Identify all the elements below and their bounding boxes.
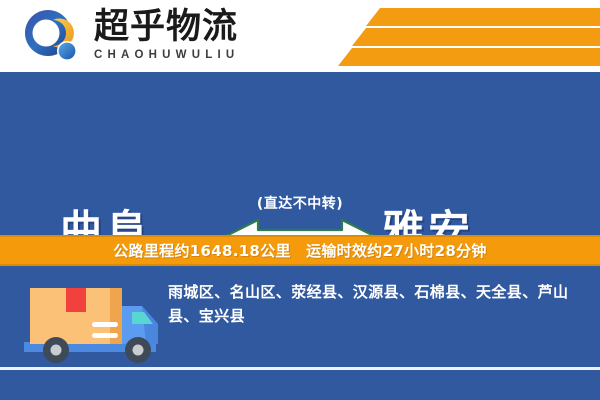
direct-shipping-note: (直达不中转) (0, 193, 600, 213)
brand-name-cn: 超乎物流 (94, 7, 274, 47)
circle-crescent-logo-icon (22, 8, 82, 66)
brand-block: 超乎物流 CHAOHUWULIU (94, 7, 274, 62)
diagonal-stripes-decoration (320, 6, 600, 68)
logistics-route-banner: 超乎物流 CHAOHUWULIU 曲阜 (直达不中转) 【往返运输】 雅安 公路… (0, 0, 600, 400)
distance-duration-text: 公路里程约1648.18公里 运输时效约27小时28分钟 (113, 240, 486, 261)
coverage-section: 雨城区、名山区、荥经县、汉源县、石棉县、天全县、芦山县、宝兴县 (0, 268, 600, 400)
route-panel: 曲阜 (直达不中转) 【往返运输】 雅安 (0, 72, 600, 235)
banner-header: 超乎物流 CHAOHUWULIU (0, 0, 600, 72)
delivery-truck-icon (22, 280, 162, 372)
route-info-bar: 公路里程约1648.18公里 运输时效约27小时28分钟 (0, 235, 600, 266)
brand-name-en: CHAOHUWULIU (94, 48, 274, 62)
coverage-areas-text: 雨城区、名山区、荥经县、汉源县、石棉县、天全县、芦山县、宝兴县 (168, 280, 586, 328)
bottom-divider (0, 367, 600, 370)
